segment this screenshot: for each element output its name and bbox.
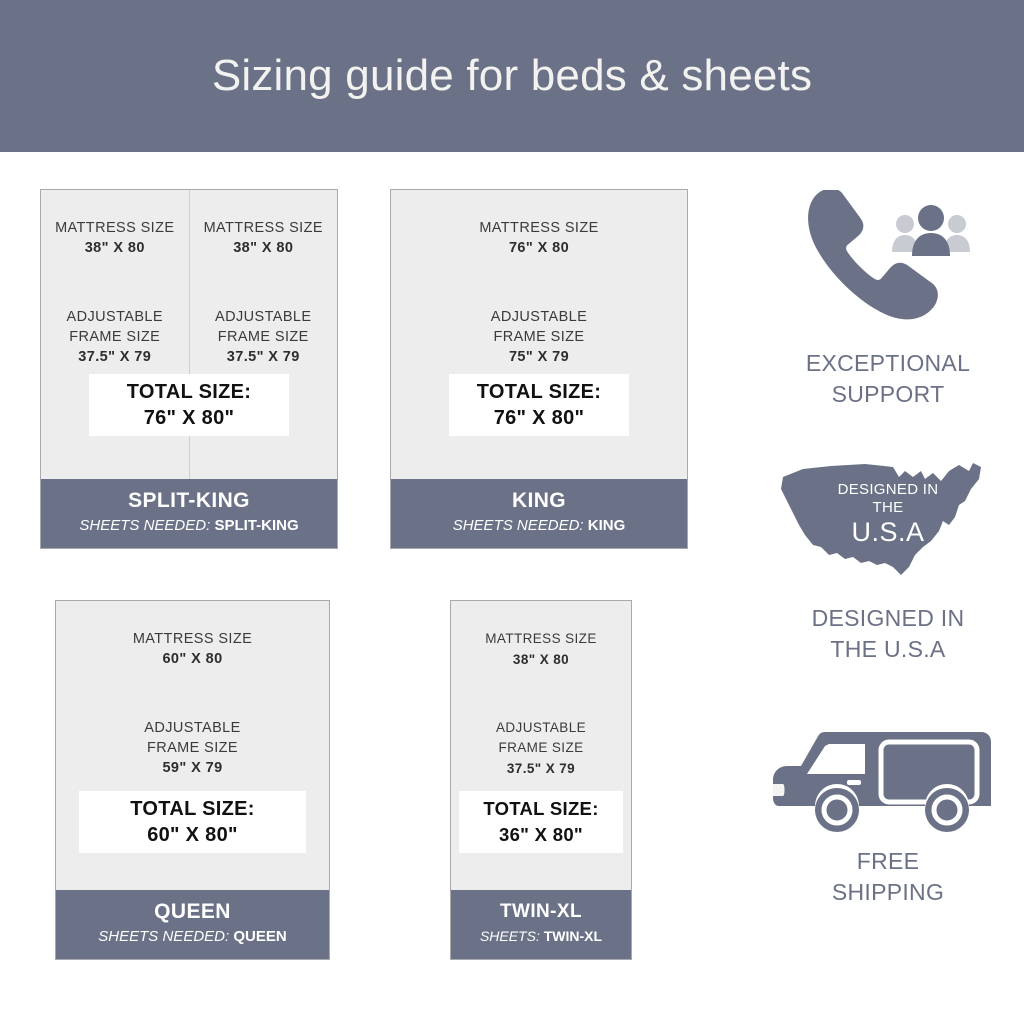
frame-size-label-line1: ADJUSTABLE — [451, 718, 631, 738]
mattress-spec: MATTRESS SIZE 60" X 80 — [56, 629, 329, 670]
feature-label: FREE SHIPPING — [756, 846, 1020, 908]
feature-label: EXCEPTIONAL SUPPORT — [756, 348, 1020, 410]
feature-free-shipping: FREE SHIPPING — [756, 718, 1020, 908]
card-footer: TWIN-XL SHEETS: TWIN-XL — [451, 890, 631, 959]
total-size-value: 76" X 80" — [144, 405, 235, 431]
delivery-van-icon — [756, 718, 1020, 838]
frame-spec: ADJUSTABLE FRAME SIZE 59" X 79 — [56, 718, 329, 779]
total-size-box: TOTAL SIZE: 76" X 80" — [89, 374, 289, 436]
frame-size-label-line2: FRAME SIZE — [451, 738, 631, 758]
frame-spec: ADJUSTABLE FRAME SIZE 37.5" X 79 — [190, 307, 338, 368]
sheets-needed-label: SHEETS NEEDED: — [79, 517, 210, 534]
frame-size-label-line2: FRAME SIZE — [56, 738, 329, 758]
mattress-size-value: 38" X 80 — [451, 649, 631, 670]
feature-designed-in-usa: DESIGNED IN THE U.S.A DESIGNED IN THE U.… — [756, 455, 1020, 665]
card-size-name: TWIN-XL — [455, 899, 627, 925]
card-sheets-needed: SHEETS: TWIN-XL — [455, 926, 627, 947]
feature-label-line1: EXCEPTIONAL — [756, 348, 1020, 379]
frame-size-value: 37.5" X 79 — [41, 347, 189, 368]
mattress-size-label: MATTRESS SIZE — [451, 629, 631, 649]
feature-exceptional-support: EXCEPTIONAL SUPPORT — [756, 190, 1020, 410]
total-size-value: 76" X 80" — [494, 405, 585, 431]
total-size-box: TOTAL SIZE: 60" X 80" — [79, 791, 306, 853]
frame-size-label-line2: FRAME SIZE — [391, 327, 687, 347]
phone-people-icon — [756, 190, 1020, 340]
frame-size-label-line1: ADJUSTABLE — [391, 307, 687, 327]
total-size-value: 36" X 80" — [499, 822, 583, 848]
card-footer: KING SHEETS NEEDED: KING — [391, 479, 687, 548]
card-footer: QUEEN SHEETS NEEDED: QUEEN — [56, 890, 329, 959]
sheets-needed-value: TWIN-XL — [544, 928, 602, 944]
total-size-label: TOTAL SIZE: — [127, 379, 251, 405]
page-title: Sizing guide for beds & sheets — [212, 54, 812, 98]
sheets-needed-label: SHEETS NEEDED: — [453, 517, 584, 534]
sheets-needed-label: SHEETS: — [480, 928, 540, 944]
total-size-label: TOTAL SIZE: — [477, 379, 601, 405]
feature-label-line2: SUPPORT — [756, 379, 1020, 410]
frame-size-value: 37.5" X 79 — [190, 347, 338, 368]
card-size-name: QUEEN — [60, 899, 325, 925]
frame-spec: ADJUSTABLE FRAME SIZE 75" X 79 — [391, 307, 687, 368]
size-card-split-king[interactable]: MATTRESS SIZE 38" X 80 ADJUSTABLE FRAME … — [40, 189, 338, 549]
feature-label-line1: DESIGNED IN — [756, 603, 1020, 634]
mattress-size-value: 38" X 80 — [190, 238, 338, 259]
card-body: MATTRESS SIZE 38" X 80 ADJUSTABLE FRAME … — [451, 601, 631, 890]
card-body: MATTRESS SIZE 60" X 80 ADJUSTABLE FRAME … — [56, 601, 329, 890]
total-size-label: TOTAL SIZE: — [483, 796, 598, 822]
card-sheets-needed: SHEETS NEEDED: QUEEN — [60, 926, 325, 947]
sheets-needed-label: SHEETS NEEDED: — [98, 928, 229, 945]
usa-map-icon: DESIGNED IN THE U.S.A — [773, 455, 1003, 595]
frame-spec: ADJUSTABLE FRAME SIZE 37.5" X 79 — [451, 718, 631, 779]
frame-size-value: 75" X 79 — [391, 347, 687, 368]
frame-size-label-line2: FRAME SIZE — [41, 327, 189, 347]
frame-size-value: 37.5" X 79 — [451, 758, 631, 779]
total-size-box: TOTAL SIZE: 76" X 80" — [449, 374, 629, 436]
sizing-guide-infographic: Sizing guide for beds & sheets MATTRESS … — [0, 0, 1024, 1024]
feature-label-line1: FREE — [756, 846, 1020, 877]
frame-spec: ADJUSTABLE FRAME SIZE 37.5" X 79 — [41, 307, 189, 368]
mattress-spec: MATTRESS SIZE 38" X 80 — [41, 218, 189, 259]
size-card-queen[interactable]: MATTRESS SIZE 60" X 80 ADJUSTABLE FRAME … — [55, 600, 330, 960]
mattress-spec: MATTRESS SIZE 38" X 80 — [190, 218, 338, 259]
total-size-value: 60" X 80" — [147, 822, 238, 848]
frame-size-label-line1: ADJUSTABLE — [56, 718, 329, 738]
page-header: Sizing guide for beds & sheets — [0, 0, 1024, 152]
feature-label-line2: THE U.S.A — [756, 634, 1020, 665]
card-body: MATTRESS SIZE 38" X 80 ADJUSTABLE FRAME … — [41, 190, 337, 479]
frame-size-value: 59" X 79 — [56, 758, 329, 779]
total-size-label: TOTAL SIZE: — [130, 796, 254, 822]
card-size-name: SPLIT-KING — [45, 488, 333, 514]
mattress-spec: MATTRESS SIZE 76" X 80 — [391, 218, 687, 259]
feature-label-line2: SHIPPING — [756, 877, 1020, 908]
card-footer: SPLIT-KING SHEETS NEEDED: SPLIT-KING — [41, 479, 337, 548]
total-size-box: TOTAL SIZE: 36" X 80" — [459, 791, 623, 853]
card-sheets-needed: SHEETS NEEDED: SPLIT-KING — [45, 515, 333, 536]
card-size-name: KING — [395, 488, 683, 514]
mattress-size-label: MATTRESS SIZE — [56, 629, 329, 649]
size-card-king[interactable]: MATTRESS SIZE 76" X 80 ADJUSTABLE FRAME … — [390, 189, 688, 549]
mattress-size-value: 38" X 80 — [41, 238, 189, 259]
sheets-needed-value: SPLIT-KING — [214, 517, 298, 534]
size-card-twin-xl[interactable]: MATTRESS SIZE 38" X 80 ADJUSTABLE FRAME … — [450, 600, 632, 960]
frame-size-label-line1: ADJUSTABLE — [190, 307, 338, 327]
card-sheets-needed: SHEETS NEEDED: KING — [395, 515, 683, 536]
mattress-size-value: 76" X 80 — [391, 238, 687, 259]
sheets-needed-value: KING — [588, 517, 626, 534]
frame-size-label-line1: ADJUSTABLE — [41, 307, 189, 327]
mattress-spec: MATTRESS SIZE 38" X 80 — [451, 629, 631, 670]
frame-size-label-line2: FRAME SIZE — [190, 327, 338, 347]
card-body: MATTRESS SIZE 76" X 80 ADJUSTABLE FRAME … — [391, 190, 687, 479]
mattress-size-label: MATTRESS SIZE — [391, 218, 687, 238]
feature-label: DESIGNED IN THE U.S.A — [756, 603, 1020, 665]
sheets-needed-value: QUEEN — [233, 928, 286, 945]
usa-map-icon-wrap: DESIGNED IN THE U.S.A — [756, 455, 1020, 595]
mattress-size-label: MATTRESS SIZE — [41, 218, 189, 238]
mattress-size-label: MATTRESS SIZE — [190, 218, 338, 238]
mattress-size-value: 60" X 80 — [56, 649, 329, 670]
